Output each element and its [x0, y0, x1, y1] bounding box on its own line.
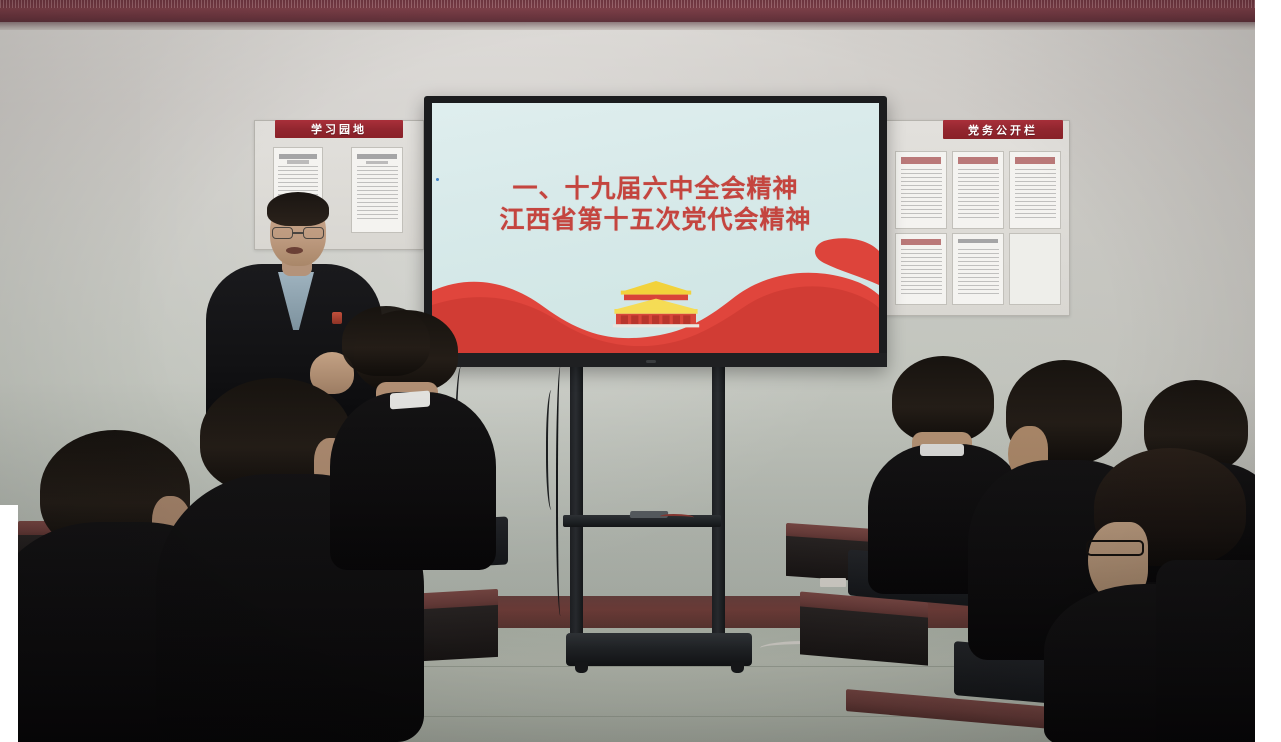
sheet-subtitle-line — [287, 160, 308, 163]
sheet-text-lines — [901, 169, 942, 219]
room-scene: 学习园地 党务公开栏 — [0, 0, 1281, 742]
hanging-cable — [556, 366, 566, 616]
sheet-title-line — [958, 157, 998, 164]
sheet-subtitle-line — [366, 161, 388, 164]
display-power-led — [646, 360, 656, 363]
slide-title-line-2: 江西省第十五次党代会精神 — [432, 204, 879, 235]
display-screen[interactable]: 一、十九届六中全会精神 江西省第十五次党代会精神 — [432, 103, 879, 353]
page-margin-left — [0, 505, 18, 742]
notice-sheet — [952, 233, 1004, 305]
shelf-cable — [660, 514, 694, 520]
tiananmen-gate-icon — [608, 281, 704, 331]
sheet-title-line — [958, 239, 998, 243]
sheet-text-lines — [958, 249, 999, 295]
audience-member — [336, 300, 432, 420]
notice-sheet — [895, 233, 947, 305]
display-indicator-dot — [436, 178, 439, 181]
tv-stand-base — [566, 633, 752, 666]
tv-stand-right-post — [712, 360, 725, 648]
sheet-title-line — [901, 239, 941, 245]
sheet-text-lines — [958, 169, 999, 219]
presenter-mouth — [286, 247, 303, 254]
presenter-glasses-icon — [272, 227, 324, 239]
tv-stand-caster — [575, 662, 588, 673]
presenter-hair — [267, 192, 329, 226]
meeting-room-photo: 学习园地 党务公开栏 — [0, 0, 1281, 742]
desk-name-tag — [820, 578, 846, 587]
slide-title-line-1: 一、十九届六中全会精神 — [432, 173, 879, 204]
notice-sheet — [1009, 151, 1061, 229]
notice-sheet — [1009, 233, 1061, 305]
bulletin-board-right: 党务公开栏 — [884, 120, 1070, 316]
sheet-title-line — [1015, 157, 1055, 164]
bulletin-board-left-header: 学习园地 — [275, 120, 403, 138]
hanging-cable — [546, 390, 558, 510]
bulletin-board-right-header: 党务公开栏 — [943, 120, 1063, 139]
page-margin-right — [1255, 0, 1281, 742]
audience-glasses-icon — [1086, 540, 1144, 556]
sheet-title-line — [279, 154, 317, 159]
interactive-flat-panel-display[interactable]: 一、十九届六中全会精神 江西省第十五次党代会精神 — [424, 96, 887, 367]
audience-hair — [892, 356, 994, 442]
slide-title-block: 一、十九届六中全会精神 江西省第十五次党代会精神 — [432, 173, 879, 235]
sheet-title-line — [357, 154, 397, 159]
notice-sheet — [895, 151, 947, 229]
notice-sheet — [952, 151, 1004, 229]
audience-shirt-collar — [920, 444, 964, 456]
tv-stand-caster — [731, 662, 744, 673]
tv-stand-left-post — [570, 360, 583, 648]
ceiling-banner-band — [0, 0, 1281, 24]
sheet-text-lines — [901, 249, 942, 295]
sheet-title-line — [901, 157, 941, 164]
audience-hair — [342, 306, 430, 376]
sheet-text-lines — [1015, 169, 1056, 219]
